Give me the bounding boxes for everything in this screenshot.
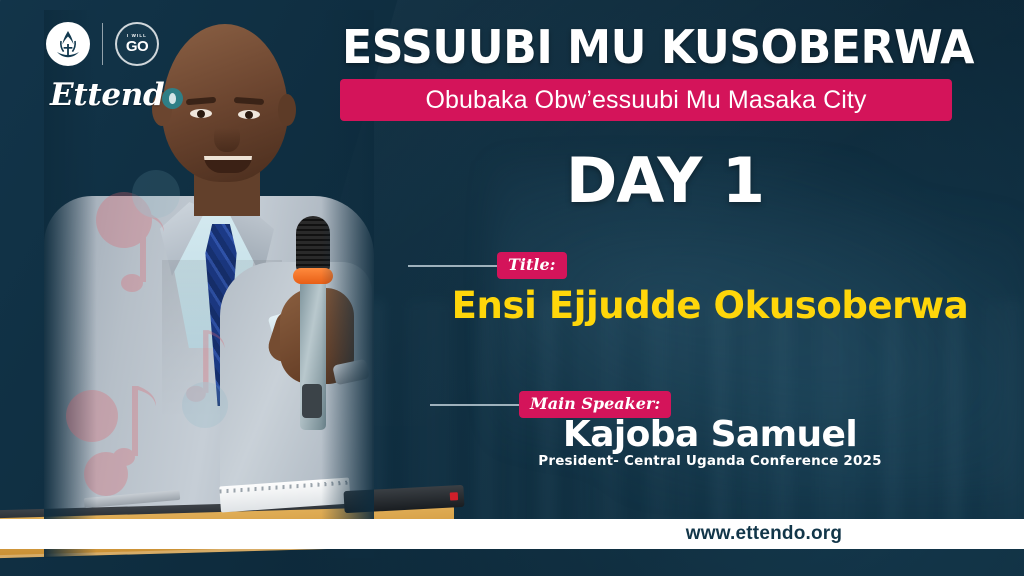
microphone-switch <box>302 384 322 418</box>
logo-row: I WILL GO <box>46 22 159 66</box>
page-title: ESSUUBI MU KUSOBERWA <box>337 24 978 72</box>
speaker-role: President- Central Uganda Conference 202… <box>430 453 990 469</box>
microphone-orange-ring <box>293 268 333 284</box>
eye-left <box>190 109 212 118</box>
sda-logo-icon <box>46 22 90 66</box>
subtitle-text: Obubaka Obw’essuubi Mu Masaka City <box>425 86 866 115</box>
speaker-leader-line <box>430 404 522 406</box>
ear-right <box>278 94 296 126</box>
ettendo-wordmark: Ettend <box>50 80 183 111</box>
ettendo-wordmark-text: Ettend <box>50 80 164 111</box>
speaker-name: Kajoba Samuel <box>430 414 990 455</box>
ettendo-o-icon <box>162 88 183 109</box>
microphone-icon <box>296 216 330 426</box>
logo-divider <box>102 23 103 65</box>
microphone-head <box>296 216 330 274</box>
title-leader-line <box>408 265 498 267</box>
i-will-go-bottom-text: GO <box>126 39 148 54</box>
nose <box>214 122 240 152</box>
website-url[interactable]: www.ettendo.org <box>504 519 1024 549</box>
day-label: DAY 1 <box>430 144 900 217</box>
sermon-title: Ensi Ejjudde Okusoberwa <box>430 284 990 327</box>
subtitle-bar: Obubaka Obw’essuubi Mu Masaka City <box>340 79 952 121</box>
title-badge: Title: <box>497 252 567 279</box>
event-poster: I WILL GO Ettend ESSUUBI MU KUSOBERWA Ob… <box>0 0 1024 576</box>
i-will-go-logo-icon: I WILL GO <box>115 22 159 66</box>
eye-right <box>238 110 260 119</box>
